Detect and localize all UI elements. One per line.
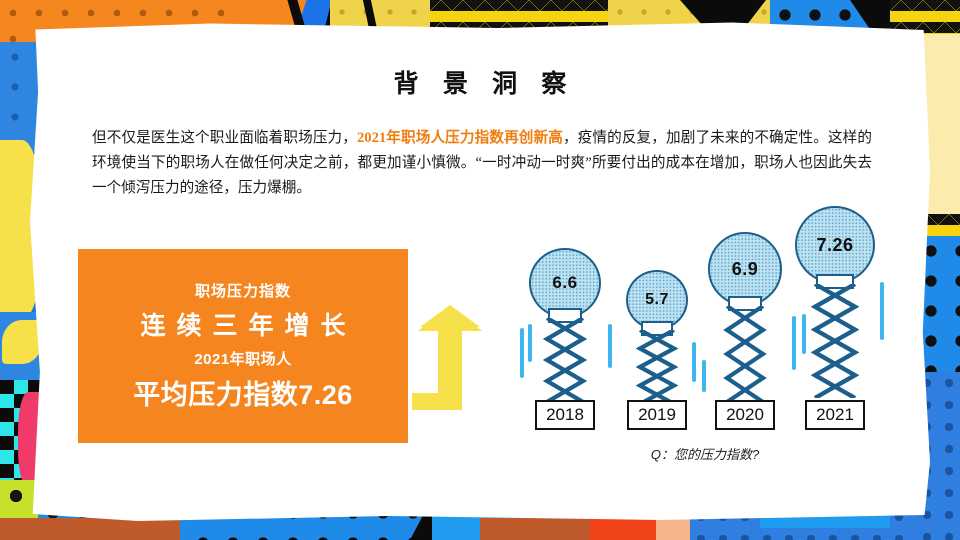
slide-root: 背 景 洞 察 但不仅是医生这个职业面临着职场压力，2021年职场人压力指数再创… xyxy=(0,0,960,540)
stress-index-chart: 6.6 2018 5.7 xyxy=(520,228,890,478)
chart-item-2019: 5.7 2019 xyxy=(620,270,694,430)
chart-item-2020: 6.9 2020 xyxy=(708,232,782,430)
year-label-2018: 2018 xyxy=(535,400,595,430)
value-label-2019: 5.7 xyxy=(645,291,669,309)
motion-line xyxy=(692,342,696,382)
motion-line xyxy=(608,324,612,368)
chart-question-caption: Q：您的压力指数? xyxy=(520,444,890,463)
spring-coil-2018 xyxy=(543,318,587,402)
value-label-2021: 7.26 xyxy=(816,235,853,256)
callout-line-3: 2021年职场人 xyxy=(194,348,291,369)
year-label-2020: 2020 xyxy=(715,400,775,430)
chart-item-2018: 6.6 2018 xyxy=(528,248,602,430)
bg-patch-brown-bottom xyxy=(0,518,180,540)
spring-coil-2021 xyxy=(811,284,859,398)
motion-line xyxy=(792,316,796,370)
page-title: 背 景 洞 察 xyxy=(0,64,960,100)
spring-coil-2019 xyxy=(636,330,678,404)
year-label-2021: 2021 xyxy=(805,400,865,430)
year-label-2019: 2019 xyxy=(627,400,687,430)
paragraph-part-1: 但不仅是医生这个职业面临着职场压力， xyxy=(92,130,357,146)
callout-line-2: 连续三年增长 xyxy=(129,306,356,342)
motion-line xyxy=(702,360,706,392)
up-arrow-icon xyxy=(412,305,488,410)
callout-line-4: 平均压力指数7.26 xyxy=(133,373,353,412)
value-label-2018: 6.6 xyxy=(552,273,577,293)
callout-line-1: 职场压力指数 xyxy=(195,280,291,301)
chart-item-2021: 7.26 2021 xyxy=(798,206,872,430)
balloon-2021: 7.26 xyxy=(795,206,875,284)
bg-patch-yellow-flower xyxy=(2,320,42,364)
body-paragraph: 但不仅是医生这个职业面临着职场压力，2021年职场人压力指数再创新高，疫情的反复… xyxy=(92,126,872,201)
stress-index-callout: 职场压力指数 连续三年增长 2021年职场人 平均压力指数7.26 xyxy=(78,249,408,443)
motion-line xyxy=(880,282,884,340)
motion-line xyxy=(520,328,524,378)
motion-line xyxy=(528,324,532,362)
paragraph-highlight: 2021年职场人压力指数再创新高 xyxy=(357,130,563,146)
value-label-2020: 6.9 xyxy=(732,259,759,280)
spring-coil-2020 xyxy=(723,306,767,402)
balloon-2020: 6.9 xyxy=(708,232,782,306)
